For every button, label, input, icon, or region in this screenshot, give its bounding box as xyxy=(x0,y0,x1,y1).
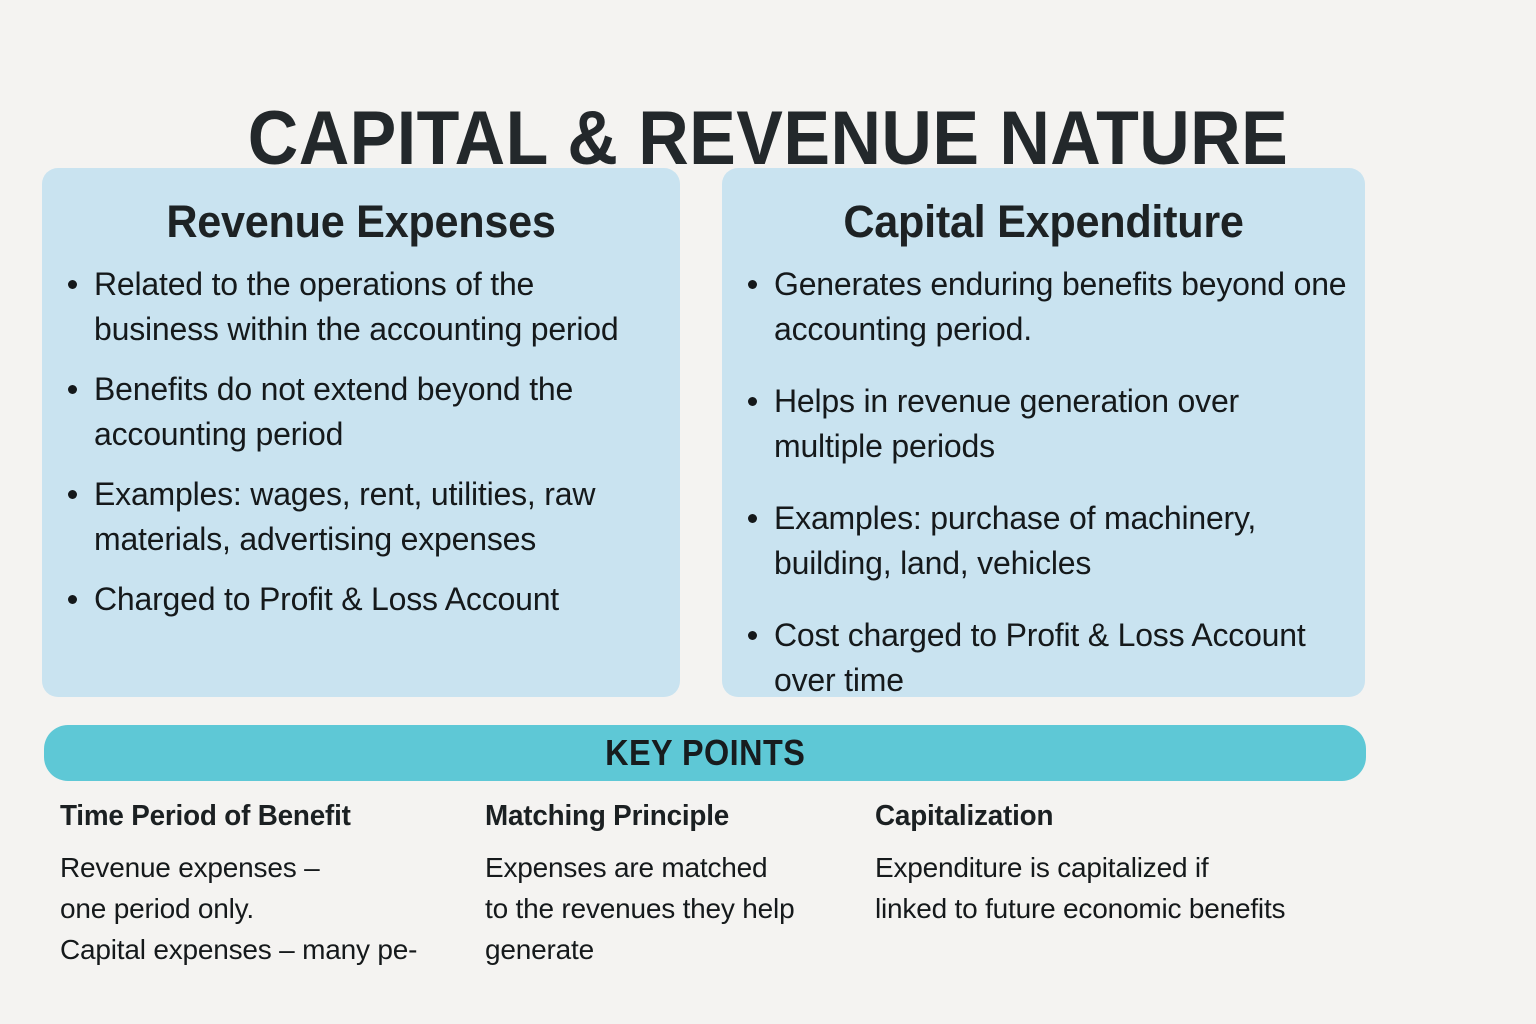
list-item: Generates enduring benefits beyond one a… xyxy=(774,262,1347,353)
list-item: Related to the operations of the busines… xyxy=(94,262,662,353)
key-point-body: Expenses are matched to the revenues the… xyxy=(485,847,860,970)
list-item: Examples: purchase of machinery, buildin… xyxy=(774,496,1347,587)
list-item: Examples: wages, rent, utilities, raw ma… xyxy=(94,472,662,563)
capital-bullet-list: Generates enduring benefits beyond one a… xyxy=(722,262,1365,704)
list-item: Charged to Profit & Loss Account xyxy=(94,577,662,622)
infographic-canvas: CAPITAL & REVENUE NATURE Revenue Expense… xyxy=(0,0,1536,1024)
key-points-banner: KEY POINTS xyxy=(44,725,1366,781)
key-point-body: Expenditure is capitalized if linked to … xyxy=(875,847,1395,929)
key-point-column-matching-principle: Matching Principle Expenses are matched … xyxy=(485,800,860,970)
key-points-columns: Time Period of Benefit Revenue expenses … xyxy=(0,800,1536,1000)
list-item: Benefits do not extend beyond the accoun… xyxy=(94,367,662,458)
list-item: Cost charged to Profit & Loss Account ov… xyxy=(774,613,1347,704)
key-point-title: Matching Principle xyxy=(485,800,845,833)
key-point-body: Revenue expenses – one period only. Capi… xyxy=(60,847,480,970)
key-point-title: Time Period of Benefit xyxy=(60,800,463,833)
panel-capital-expenditure: Capital Expenditure Generates enduring b… xyxy=(722,168,1365,697)
list-item: Helps in revenue generation over multipl… xyxy=(774,379,1347,470)
key-points-label: KEY POINTS xyxy=(605,732,805,774)
panel-revenue-expenses: Revenue Expenses Related to the operatio… xyxy=(42,168,680,697)
key-point-column-capitalization: Capitalization Expenditure is capitalize… xyxy=(875,800,1395,929)
page-title: CAPITAL & REVENUE NATURE xyxy=(61,99,1474,179)
key-point-column-time-period: Time Period of Benefit Revenue expenses … xyxy=(60,800,480,970)
revenue-bullet-list: Related to the operations of the busines… xyxy=(42,262,680,622)
key-point-title: Capitalization xyxy=(875,800,1374,833)
panel-revenue-heading: Revenue Expenses xyxy=(55,196,667,248)
panel-capital-heading: Capital Expenditure xyxy=(735,196,1352,248)
